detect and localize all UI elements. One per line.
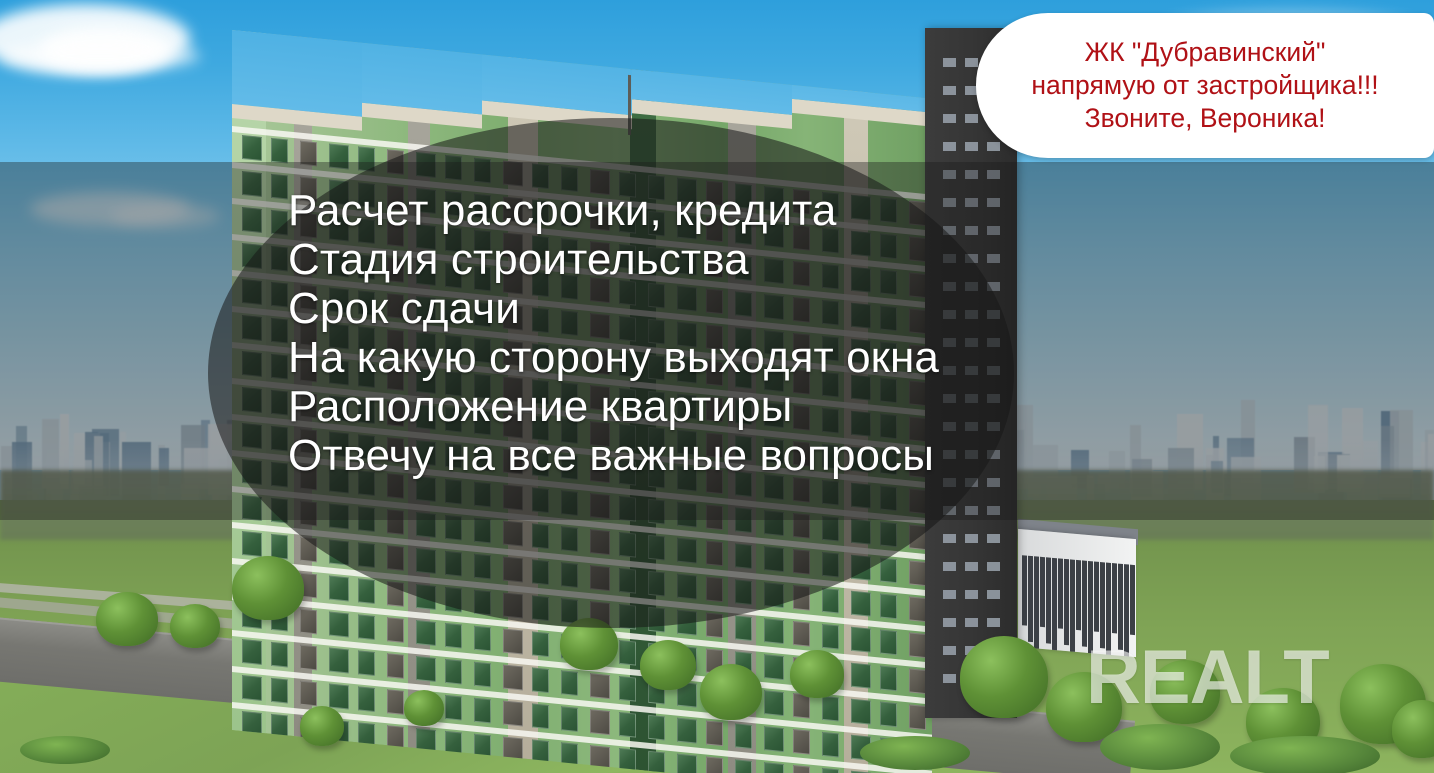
facade-window: [329, 684, 349, 710]
office-facade-fin: [1130, 565, 1135, 635]
facade-window: [822, 624, 839, 650]
facade-window: [445, 479, 462, 505]
facade-window: [706, 540, 723, 566]
office-facade-fin: [1070, 559, 1075, 657]
overlay-text-line-2: Стадия строительства: [288, 235, 1288, 284]
facade-window: [851, 699, 871, 725]
facade-window: [648, 751, 665, 773]
tree: [170, 604, 220, 648]
facade-window: [271, 426, 288, 452]
facade-window: [300, 681, 317, 707]
facade-window: [735, 507, 752, 533]
facade-window: [764, 762, 784, 773]
facade-window: [416, 584, 436, 610]
tree: [232, 556, 304, 620]
facade-window: [242, 171, 262, 197]
facade-window: [793, 621, 810, 647]
facade-window: [735, 615, 752, 641]
facade-window: [242, 675, 262, 701]
facade-window: [300, 645, 317, 671]
facade-window: [358, 686, 375, 712]
facade-window: [329, 612, 349, 638]
sky-cutout-above-roof: [232, 30, 362, 117]
facade-window: [358, 650, 375, 676]
facade-window: [474, 518, 491, 544]
facade-window: [619, 568, 636, 594]
facade-window: [300, 609, 317, 635]
facade-window: [445, 515, 462, 541]
facade-window: [822, 516, 839, 542]
facade-window: [619, 604, 636, 630]
facade-window: [648, 499, 665, 525]
shrub: [860, 736, 970, 770]
overlay-text-block: Расчет рассрочки, кредитаСтадия строител…: [288, 186, 1288, 480]
facade-window: [590, 565, 610, 591]
facade-window: [822, 552, 839, 578]
facade-window: [358, 578, 375, 604]
facade-window: [271, 498, 288, 524]
facade-window: [619, 496, 636, 522]
facade-window: [851, 555, 871, 581]
office-facade-fin: [1064, 559, 1069, 645]
facade-window: [764, 510, 784, 536]
facade-window: [474, 554, 491, 580]
facade-window: [242, 387, 262, 413]
facade-window: [503, 485, 523, 511]
facade-window: [271, 174, 288, 200]
facade-window: [590, 673, 610, 699]
facade-window: [300, 537, 317, 563]
facade-window: [532, 703, 549, 729]
tree: [700, 664, 762, 720]
facade-window: [590, 493, 610, 519]
office-facade-fin: [1058, 558, 1063, 628]
facade-window: [706, 720, 723, 746]
facade-window: [822, 480, 839, 506]
facade-window: [735, 579, 752, 605]
facade-window: [677, 610, 697, 636]
facade-window: [387, 509, 404, 535]
facade-window: [561, 562, 578, 588]
facade-window: [590, 709, 610, 735]
facade-window: [619, 532, 636, 558]
facade-window: [387, 689, 404, 715]
facade-window: [561, 670, 578, 696]
facade-window: [764, 546, 784, 572]
facade-window: [445, 155, 462, 181]
facade-window: [271, 354, 288, 380]
overlay-text-line-1: Расчет рассрочки, кредита: [288, 186, 1288, 235]
facade-window: [503, 593, 523, 619]
overlay-text-line-5: Расположение квартиры: [288, 382, 1288, 431]
facade-window: [677, 538, 697, 564]
facade-window: [793, 477, 810, 503]
facade-window: [909, 524, 926, 550]
facade-window: [648, 607, 665, 633]
facade-window: [909, 704, 926, 730]
facade-window: [793, 765, 810, 773]
facade-window: [706, 576, 723, 602]
facade-window: [619, 640, 636, 666]
facade-window: [619, 712, 636, 738]
facade-window: [474, 158, 491, 184]
facade-window: [242, 351, 262, 377]
facade-window: [764, 690, 784, 716]
facade-window: [329, 576, 349, 602]
facade-window: [648, 715, 665, 741]
facade-window: [242, 531, 262, 557]
facade-window: [474, 482, 491, 508]
facade-window: [793, 513, 810, 539]
facade-window: [445, 695, 462, 721]
facade-window: [329, 504, 349, 530]
office-facade-fin: [1112, 563, 1117, 633]
facade-window: [300, 141, 317, 167]
facade-window: [880, 666, 897, 692]
facade-window: [706, 756, 723, 773]
facade-window: [445, 623, 462, 649]
facade-window: [503, 701, 523, 727]
facade-window: [271, 318, 288, 344]
facade-window: [851, 663, 871, 689]
facade-window: [329, 144, 349, 170]
bubble-text-line-2: напрямую от застройщика!!!: [1031, 69, 1378, 102]
facade-window: [503, 629, 523, 655]
overlay-text-line-4: На какую сторону выходят окна: [288, 333, 1288, 382]
facade-window: [880, 558, 897, 584]
facade-window: [909, 488, 926, 514]
facade-window: [358, 542, 375, 568]
facade-window: [358, 506, 375, 532]
facade-window: [358, 146, 375, 172]
facade-window: [474, 698, 491, 724]
facade-window: [764, 618, 784, 644]
facade-window: [648, 535, 665, 561]
office-facade-fin: [1052, 558, 1057, 657]
bubble-text-line-1: ЖК "Дубравинский": [1031, 36, 1378, 69]
advertisement-image: Расчет рассрочки, кредитаСтадия строител…: [0, 0, 1434, 773]
facade-window: [271, 462, 288, 488]
facade-window: [271, 678, 288, 704]
realt-watermark: REALT: [1086, 634, 1329, 721]
facade-window: [793, 729, 810, 755]
facade-window: [909, 560, 926, 586]
facade-window: [880, 522, 897, 548]
tree: [300, 706, 344, 746]
facade-window: [532, 523, 549, 549]
facade-window: [242, 315, 262, 341]
facade-window: [242, 243, 262, 269]
facade-window: [300, 501, 317, 527]
tree: [640, 640, 696, 690]
facade-window: [764, 654, 784, 680]
facade-window: [503, 161, 523, 187]
facade-window: [532, 487, 549, 513]
facade-window: [532, 595, 549, 621]
tree: [404, 690, 444, 726]
office-facade-fin: [1028, 556, 1033, 642]
facade-window: [242, 495, 262, 521]
facade-window: [387, 617, 404, 643]
roof-mast: [628, 75, 631, 135]
facade-window: [561, 490, 578, 516]
bubble-text-line-3: Звоните, Вероника!: [1031, 102, 1378, 135]
cloud: [0, 40, 200, 72]
facade-window: [822, 696, 839, 722]
facade-window: [387, 581, 404, 607]
facade-window: [416, 512, 436, 538]
facade-window: [387, 149, 404, 175]
facade-window: [503, 521, 523, 547]
facade-window: [677, 502, 697, 528]
facade-window: [416, 548, 436, 574]
facade-window: [532, 631, 549, 657]
facade-window: [880, 486, 897, 512]
facade-window: [242, 279, 262, 305]
facade-window: [590, 529, 610, 555]
facade-window: [387, 545, 404, 571]
office-facade-fin: [1076, 560, 1081, 630]
facade-window: [619, 676, 636, 702]
facade-window: [387, 653, 404, 679]
facade-window: [242, 135, 262, 161]
facade-window: [851, 591, 871, 617]
facade-window: [271, 390, 288, 416]
facade-window: [706, 612, 723, 638]
office-facade-fin: [1022, 555, 1027, 625]
facade-window: [445, 587, 462, 613]
facade-window: [416, 152, 436, 178]
facade-window: [503, 665, 523, 691]
facade-window: [793, 549, 810, 575]
facade-window: [851, 627, 871, 653]
facade-window: [474, 590, 491, 616]
facade-window: [764, 726, 784, 752]
facade-window: [416, 656, 436, 682]
shrub: [1100, 724, 1220, 770]
facade-window: [474, 662, 491, 688]
facade-window: [271, 282, 288, 308]
contact-bubble-text: ЖК "Дубравинский"напрямую от застройщика…: [1031, 36, 1378, 135]
facade-window: [561, 526, 578, 552]
office-facade-fin: [1040, 557, 1045, 627]
facade-window: [735, 759, 752, 773]
office-facade-fin: [1034, 556, 1039, 657]
tree: [560, 618, 618, 670]
overlay-text-line-6: Отвечу на все важные вопросы: [288, 431, 1288, 480]
tree: [960, 636, 1048, 718]
facade-window: [242, 207, 262, 233]
office-facade-fin: [1094, 561, 1099, 631]
facade-window: [416, 620, 436, 646]
contact-speech-bubble: ЖК "Дубравинский"напрямую от застройщика…: [976, 13, 1434, 158]
facade-window: [503, 557, 523, 583]
facade-window: [445, 659, 462, 685]
shrub: [20, 736, 110, 764]
tree: [790, 650, 844, 698]
facade-window: [271, 210, 288, 236]
facade-window: [677, 574, 697, 600]
facade-window: [358, 614, 375, 640]
facade-window: [880, 702, 897, 728]
facade-window: [445, 551, 462, 577]
facade-window: [242, 459, 262, 485]
facade-window: [909, 596, 926, 622]
shrub: [1230, 736, 1380, 773]
facade-window: [474, 626, 491, 652]
facade-window: [329, 648, 349, 674]
office-facade-fin: [1046, 557, 1051, 643]
facade-window: [822, 732, 839, 758]
overlay-text-line-3: Срок сдачи: [288, 284, 1288, 333]
facade-window: [561, 706, 578, 732]
facade-window: [764, 582, 784, 608]
facade-window: [909, 668, 926, 694]
facade-window: [242, 423, 262, 449]
facade-window: [822, 768, 839, 773]
facade-window: [532, 559, 549, 585]
facade-window: [822, 588, 839, 614]
facade-window: [532, 667, 549, 693]
facade-window: [735, 543, 752, 569]
facade-window: [677, 718, 697, 744]
facade-window: [880, 630, 897, 656]
facade-window: [329, 540, 349, 566]
facade-window: [851, 519, 871, 545]
facade-window: [706, 504, 723, 530]
facade-window: [793, 585, 810, 611]
facade-window: [242, 639, 262, 665]
facade-window: [851, 483, 871, 509]
facade-window: [735, 723, 752, 749]
facade-window: [271, 642, 288, 668]
tree: [96, 592, 158, 646]
cloud: [110, 204, 220, 228]
facade-window: [271, 138, 288, 164]
facade-window: [677, 754, 697, 773]
facade-window: [648, 571, 665, 597]
facade-window: [271, 246, 288, 272]
facade-window: [880, 594, 897, 620]
facade-window: [909, 632, 926, 658]
